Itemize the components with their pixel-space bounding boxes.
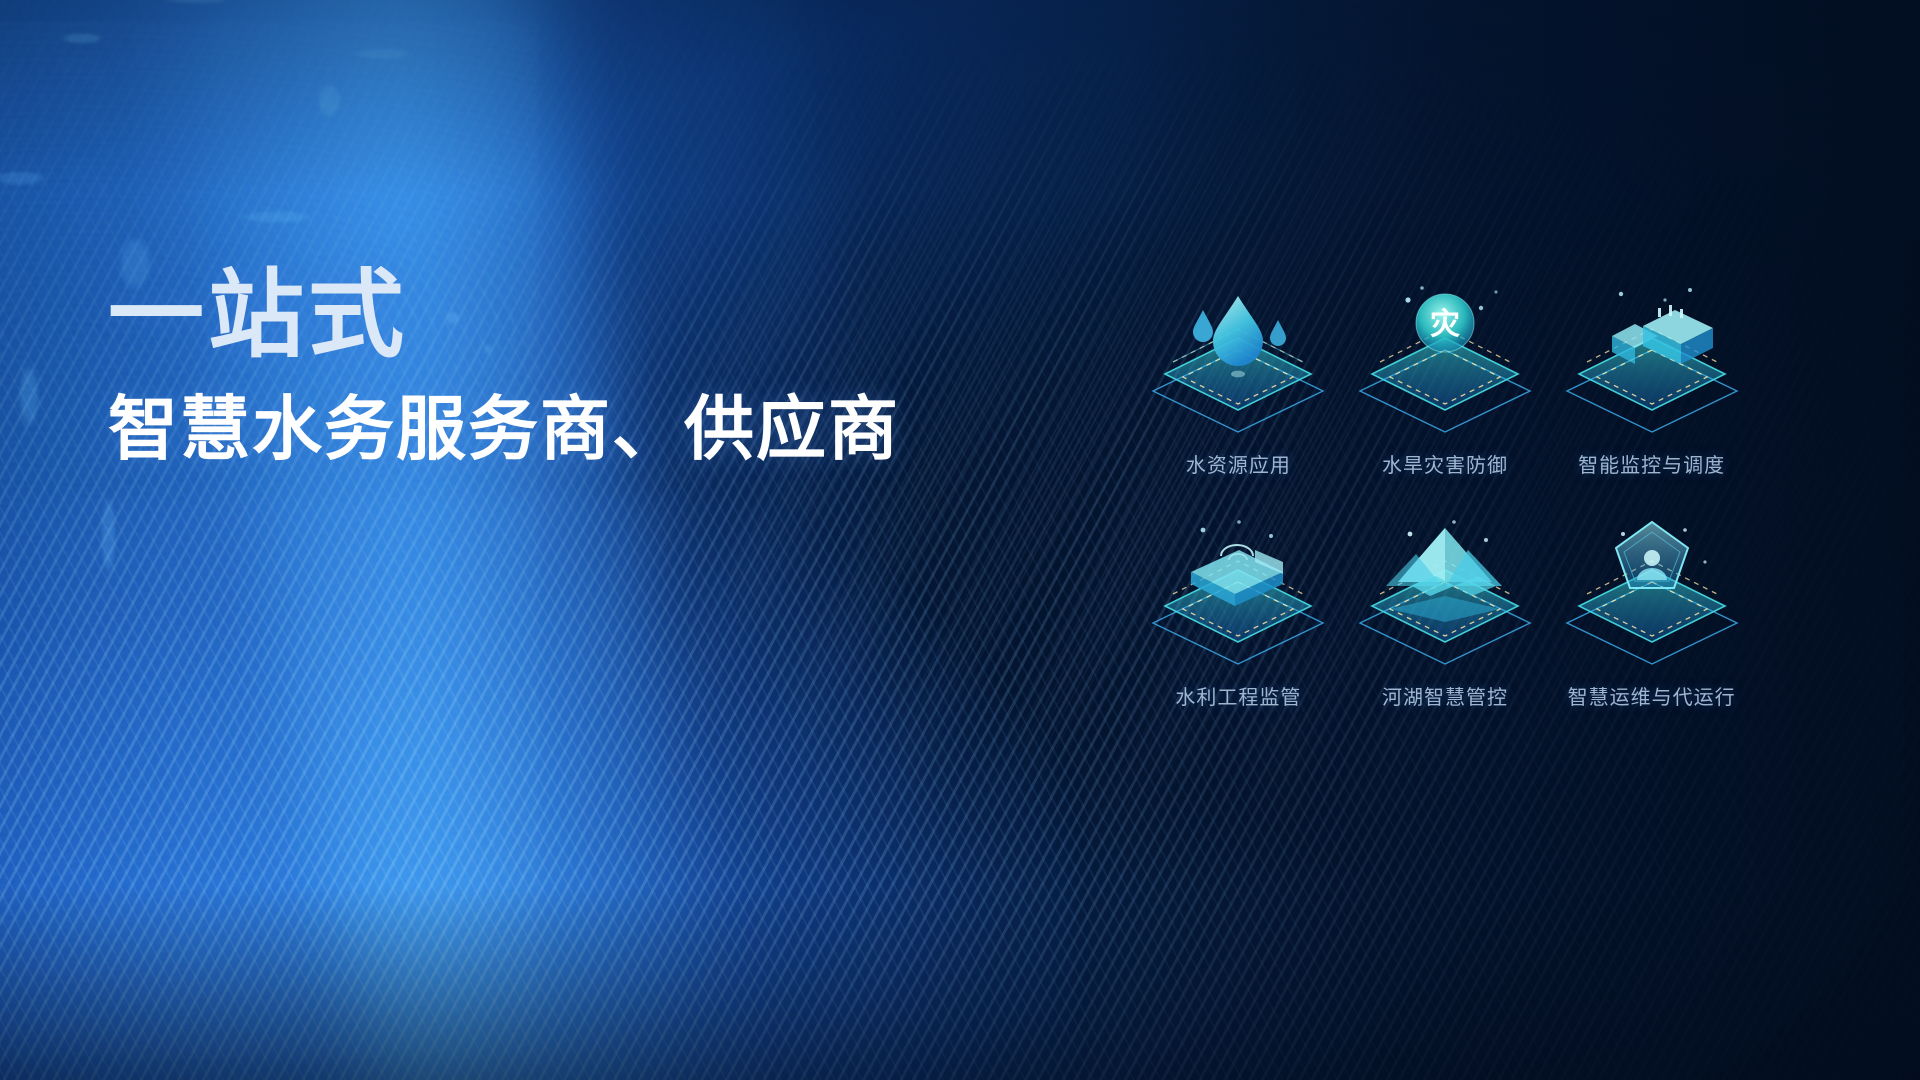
disaster-badge-icon: 灾: [1350, 278, 1540, 443]
water-drop-icon: [1143, 278, 1333, 443]
service-label: 河湖智慧管控: [1382, 681, 1508, 710]
service-card-water-resource[interactable]: 水资源应用: [1135, 278, 1342, 478]
service-card-river-lake-control[interactable]: 河湖智慧管控: [1342, 510, 1549, 710]
hydro-project-icon: [1143, 510, 1333, 675]
service-card-smart-monitoring[interactable]: 智能监控与调度: [1548, 278, 1755, 478]
service-card-hydro-project-supervision[interactable]: 水利工程监管: [1135, 510, 1342, 710]
service-label: 水旱灾害防御: [1382, 449, 1508, 478]
shield-ops-icon: [1557, 510, 1747, 675]
service-label: 水利工程监管: [1175, 681, 1301, 710]
badge-text: 灾: [1430, 307, 1460, 341]
dam-control-icon: [1557, 278, 1747, 443]
river-lake-icon: [1350, 510, 1540, 675]
service-label: 智能监控与调度: [1578, 449, 1725, 478]
slide-canvas: 一站式 智慧水务服务商、供应商: [0, 0, 1920, 1080]
service-card-flood-drought-defense[interactable]: 灾 水旱灾害防御: [1342, 278, 1549, 478]
page-title: 一站式: [108, 265, 900, 367]
service-card-smart-ops[interactable]: 智慧运维与代运行: [1548, 510, 1755, 710]
headline-block: 一站式 智慧水务服务商、供应商: [108, 265, 900, 468]
service-label: 水资源应用: [1186, 449, 1291, 478]
page-subtitle: 智慧水务服务商、供应商: [108, 391, 900, 468]
service-grid: 水资源应用: [1135, 278, 1755, 710]
service-label: 智慧运维与代运行: [1568, 681, 1736, 710]
